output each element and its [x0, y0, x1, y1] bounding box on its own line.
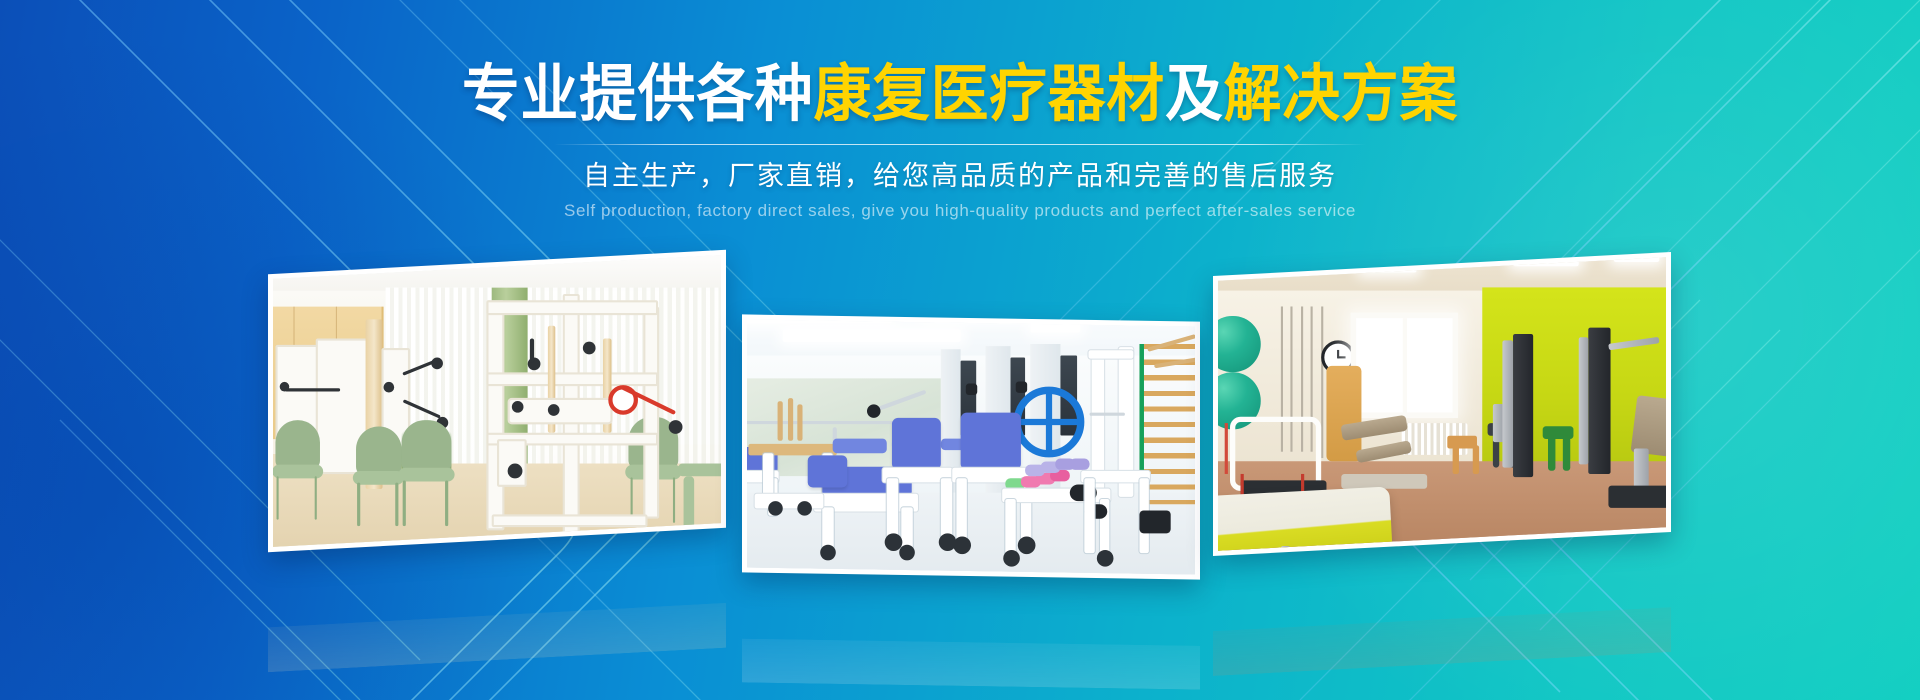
gallery-photo-2-image	[747, 319, 1195, 574]
gallery-photo-1-image	[273, 255, 721, 547]
gallery-photo-1[interactable]	[268, 250, 726, 552]
gallery-photo-3-image	[1218, 257, 1666, 550]
photo-gallery	[0, 0, 1920, 700]
promo-banner: 专业提供各种康复医疗器材及解决方案 自主生产，厂家直销，给您高品质的产品和完善的…	[0, 0, 1920, 700]
gallery-photo-3[interactable]	[1213, 252, 1671, 556]
gallery-photo-2-reflection	[742, 572, 1200, 689]
gallery-photo-1-reflection	[268, 528, 726, 672]
gallery-photo-2[interactable]	[742, 314, 1200, 579]
gallery-photo-3-reflection	[1213, 532, 1671, 676]
